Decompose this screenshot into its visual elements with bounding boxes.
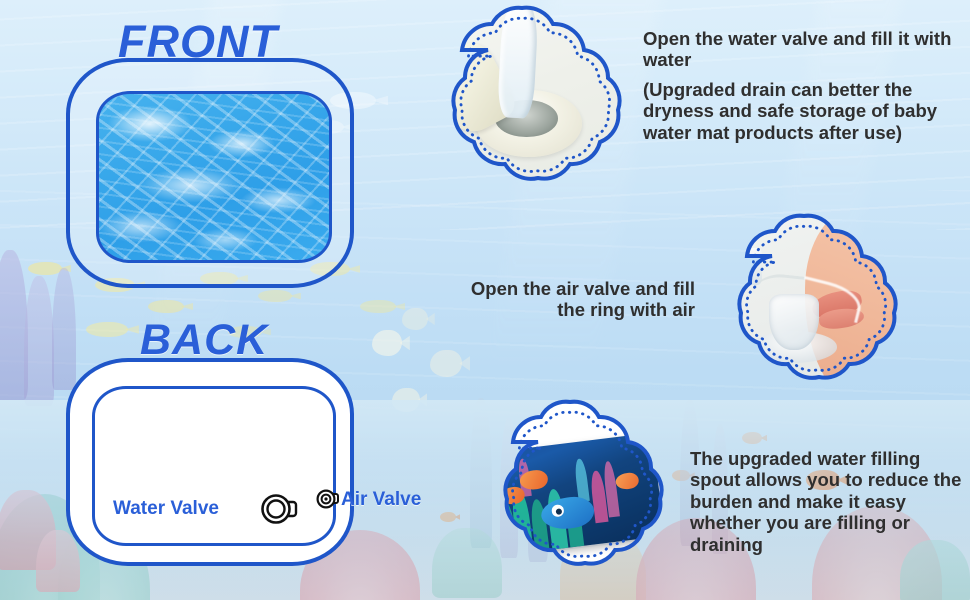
infographic-canvas: FRONT BACK Water Valve Air Valve — [0, 0, 970, 600]
background-fish — [86, 322, 128, 337]
cloud-badge-air-fill — [692, 216, 918, 402]
background-fish — [360, 300, 396, 313]
cloud-badge-water-fill — [404, 8, 644, 204]
air-valve-label: Air Valve — [341, 489, 421, 511]
background-fish — [430, 350, 462, 377]
background-coral — [24, 276, 54, 406]
mouth-blowing-photo — [692, 216, 918, 402]
folded-mat-photo — [458, 402, 684, 588]
water-valve-icon — [260, 492, 298, 526]
background-fish — [28, 262, 62, 275]
back-mat-illustration — [66, 358, 354, 566]
front-mat-water-surface — [96, 91, 332, 263]
caption-air-fill: Open the air valve and fill the ring wit… — [455, 278, 695, 321]
air-valve-icon — [316, 488, 340, 510]
back-mat-surface — [92, 386, 336, 546]
caption-spout: The upgraded water filling spout allows … — [690, 448, 965, 555]
background-fish — [258, 290, 292, 302]
water-valve-label: Water Valve — [113, 498, 219, 520]
background-coral — [52, 268, 76, 390]
caption-water-fill: Open the water valve and fill it with wa… — [643, 28, 963, 143]
background-fish — [148, 300, 184, 313]
caption-water-fill-line2: (Upgraded drain can better the dryness a… — [643, 79, 963, 143]
front-mat-illustration — [66, 58, 354, 288]
background-fish — [372, 330, 402, 356]
cloud-badge-folded-mat — [458, 402, 684, 588]
caption-water-fill-line1: Open the water valve and fill it with wa… — [643, 28, 951, 70]
background-fish — [402, 308, 428, 330]
